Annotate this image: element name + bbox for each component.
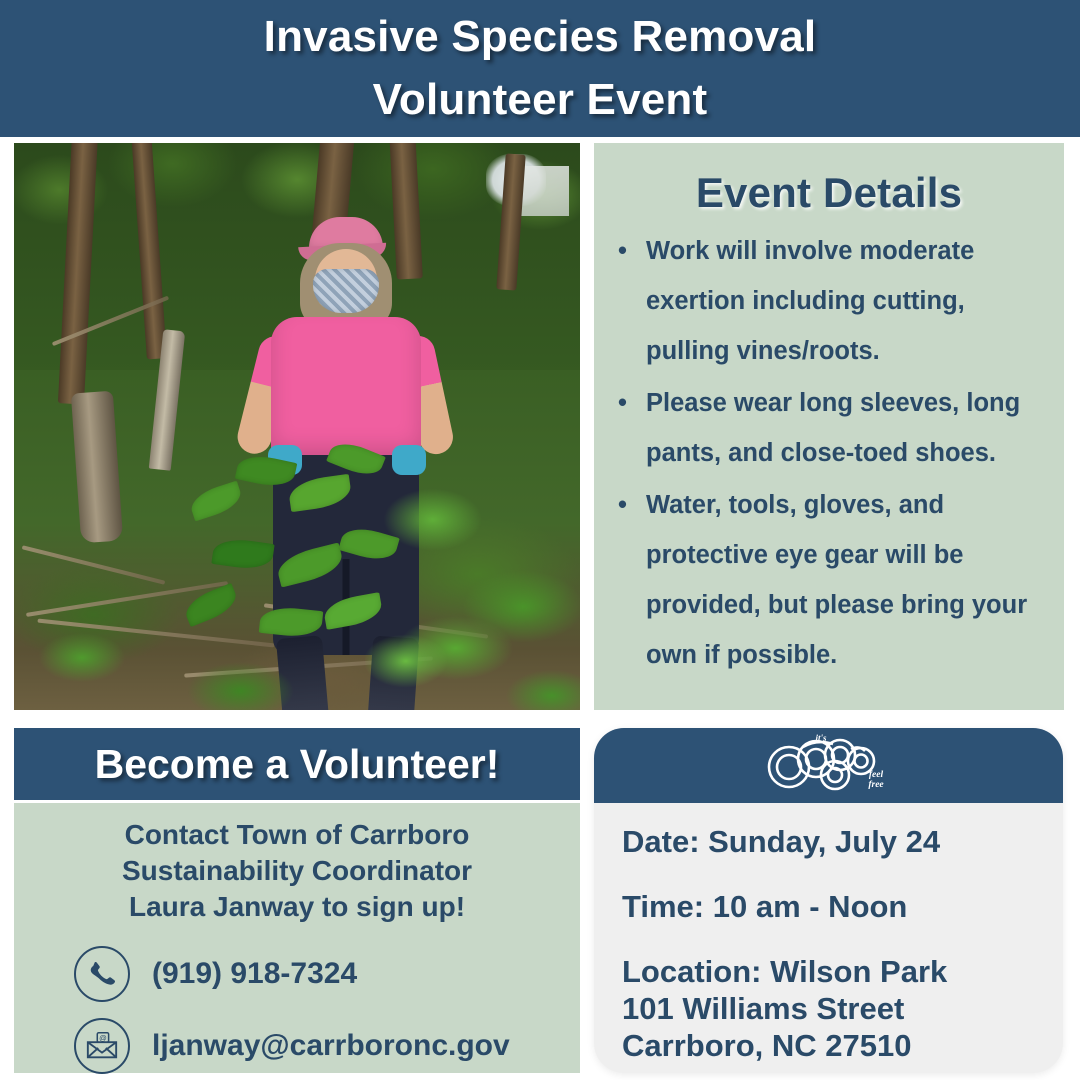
- list-item: Please wear long sleeves, long pants, an…: [642, 379, 1046, 479]
- event-info-body: Date: Sunday, July 24 Time: 10 am - Noon…: [594, 803, 1063, 1064]
- event-details-list: Work will involve moderate exertion incl…: [594, 227, 1064, 681]
- right-shrub: [365, 438, 580, 710]
- logo-tagline-free: free: [868, 780, 884, 790]
- email-icon: @: [74, 1018, 130, 1074]
- become-a-volunteer-title: Become a Volunteer!: [95, 741, 500, 788]
- contact-instructions: Contact Town of Carrboro Sustainability …: [32, 817, 562, 924]
- logo-bar: it's feel free: [594, 728, 1063, 803]
- event-date: Date: Sunday, July 24: [622, 825, 1035, 860]
- event-info-card: it's feel free Date: Sunday, July 24 Tim…: [594, 728, 1063, 1073]
- phone-contact-row[interactable]: (919) 918-7324: [32, 946, 562, 1002]
- page-title-line-2: Volunteer Event: [373, 69, 708, 131]
- email-address[interactable]: ljanway@carrboronc.gov: [152, 1029, 510, 1063]
- poster-header: Invasive Species Removal Volunteer Event: [0, 0, 1080, 137]
- logo-tagline-feel: feel: [868, 770, 883, 780]
- list-item: Water, tools, gloves, and protective eye…: [642, 481, 1046, 681]
- event-details-title: Event Details: [594, 169, 1064, 217]
- contact-line-2: Sustainability Coordinator: [32, 853, 562, 889]
- address-street: 101 Williams Street: [622, 991, 1035, 1028]
- email-contact-row[interactable]: @ ljanway@carrboronc.gov: [32, 1018, 562, 1074]
- carrboro-town-logo: it's feel free: [763, 731, 895, 800]
- contact-line-3: Laura Janway to sign up!: [32, 889, 562, 925]
- event-details-panel: Event Details Work will involve moderate…: [594, 143, 1064, 710]
- phone-number[interactable]: (919) 918-7324: [152, 957, 357, 991]
- event-time: Time: 10 am - Noon: [622, 890, 1035, 925]
- phone-icon: [74, 946, 130, 1002]
- volunteer-photo: [14, 143, 580, 710]
- event-location: Location: Wilson Park 101 Williams Stree…: [622, 954, 1035, 1064]
- photo-scene: [14, 143, 580, 710]
- volunteer-contact-panel: Contact Town of Carrboro Sustainability …: [14, 803, 580, 1073]
- address-city-state-zip: Carrboro, NC 27510: [622, 1028, 1035, 1065]
- list-item: Work will involve moderate exertion incl…: [642, 227, 1046, 377]
- page-title-line-1: Invasive Species Removal: [264, 6, 817, 68]
- location-name: Location: Wilson Park: [622, 954, 1035, 991]
- contact-line-1: Contact Town of Carrboro: [32, 817, 562, 853]
- logo-tagline-top: it's: [815, 733, 827, 743]
- become-a-volunteer-header: Become a Volunteer!: [14, 728, 580, 800]
